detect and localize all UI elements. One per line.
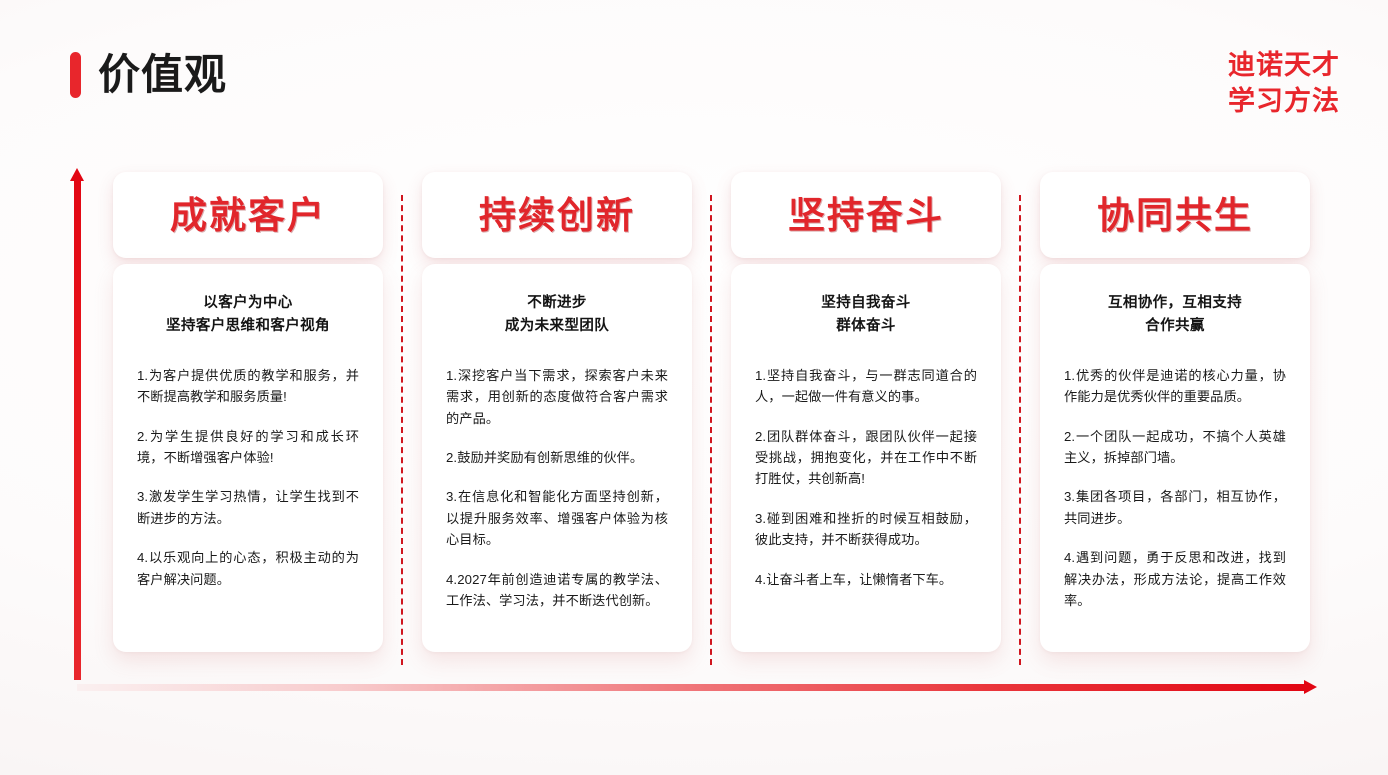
value-heading: 持续创新: [479, 197, 635, 234]
value-column: 坚持奋斗 坚持自我奋斗 群体奋斗 1.坚持自我奋斗，与一群志同道合的人，一起做一…: [731, 172, 1001, 652]
value-heading: 成就客户: [170, 197, 326, 234]
column-divider: [401, 195, 403, 665]
page-header: 价值观: [70, 52, 227, 98]
value-point-list: 1.为客户提供优质的教学和服务，并不断提高教学和服务质量! 2.为学生提供良好的…: [137, 365, 359, 590]
brand-line-2: 学习方法: [1228, 84, 1340, 120]
horizontal-axis-arrow: [77, 680, 1317, 694]
value-point: 1.深挖客户当下需求，探索客户未来需求，用创新的态度做符合客户需求的产品。: [446, 365, 668, 429]
page-title: 价值观: [98, 54, 227, 96]
value-heading-card[interactable]: 持续创新: [422, 172, 692, 258]
value-body-card: 坚持自我奋斗 群体奋斗 1.坚持自我奋斗，与一群志同道合的人，一起做一件有意义的…: [731, 264, 1001, 652]
value-point: 4.2027年前创造迪诺专属的教学法、工作法、学习法，并不断迭代创新。: [446, 569, 668, 612]
value-point: 3.集团各项目，各部门，相互协作，共同进步。: [1064, 486, 1286, 529]
value-subtitle: 以客户为中心 坚持客户思维和客户视角: [137, 292, 359, 339]
horizontal-axis-shaft: [77, 684, 1305, 691]
title-accent-bar: [70, 52, 81, 98]
value-column: 持续创新 不断进步 成为未来型团队 1.深挖客户当下需求，探索客户未来需求，用创…: [422, 172, 692, 652]
value-subtitle: 坚持自我奋斗 群体奋斗: [755, 292, 977, 339]
column-divider: [710, 195, 712, 665]
brand-line-1: 迪诺天才: [1228, 48, 1340, 84]
value-column: 成就客户 以客户为中心 坚持客户思维和客户视角 1.为客户提供优质的教学和服务，…: [113, 172, 383, 652]
value-heading-card[interactable]: 坚持奋斗: [731, 172, 1001, 258]
value-heading-card[interactable]: 成就客户: [113, 172, 383, 258]
value-point: 2.团队群体奋斗，跟团队伙伴一起接受挑战，拥抱变化，并在工作中不断打胜仗，共创新…: [755, 426, 977, 490]
value-columns: 成就客户 以客户为中心 坚持客户思维和客户视角 1.为客户提供优质的教学和服务，…: [113, 172, 1310, 652]
column-divider: [1019, 195, 1021, 665]
value-column: 协同共生 互相协作，互相支持 合作共赢 1.优秀的伙伴是迪诺的核心力量，协作能力…: [1040, 172, 1310, 652]
value-point-list: 1.深挖客户当下需求，探索客户未来需求，用创新的态度做符合客户需求的产品。 2.…: [446, 365, 668, 611]
vertical-axis-shaft: [74, 177, 81, 680]
value-heading-card[interactable]: 协同共生: [1040, 172, 1310, 258]
value-body-card: 以客户为中心 坚持客户思维和客户视角 1.为客户提供优质的教学和服务，并不断提高…: [113, 264, 383, 652]
vertical-axis-arrow: [70, 168, 84, 680]
brand-logo: 迪诺天才 学习方法: [1228, 48, 1340, 120]
value-point: 3.碰到困难和挫折的时候互相鼓励，彼此支持，并不断获得成功。: [755, 508, 977, 551]
value-point: 4.遇到问题，勇于反思和改进，找到解决办法，形成方法论，提高工作效率。: [1064, 547, 1286, 611]
value-point: 2.鼓励并奖励有创新思维的伙伴。: [446, 447, 668, 468]
value-point: 2.一个团队一起成功，不搞个人英雄主义，拆掉部门墙。: [1064, 426, 1286, 469]
value-heading: 协同共生: [1097, 197, 1253, 234]
value-subtitle: 不断进步 成为未来型团队: [446, 292, 668, 339]
value-point: 4.让奋斗者上车，让懒惰者下车。: [755, 569, 977, 590]
value-point: 2.为学生提供良好的学习和成长环境，不断增强客户体验!: [137, 426, 359, 469]
value-body-card: 互相协作，互相支持 合作共赢 1.优秀的伙伴是迪诺的核心力量，协作能力是优秀伙伴…: [1040, 264, 1310, 652]
value-point-list: 1.坚持自我奋斗，与一群志同道合的人，一起做一件有意义的事。 2.团队群体奋斗，…: [755, 365, 977, 590]
value-point-list: 1.优秀的伙伴是迪诺的核心力量，协作能力是优秀伙伴的重要品质。 2.一个团队一起…: [1064, 365, 1286, 611]
right-arrow-icon: [1304, 680, 1317, 694]
value-point: 3.在信息化和智能化方面坚持创新，以提升服务效率、增强客户体验为核心目标。: [446, 486, 668, 550]
value-point: 1.为客户提供优质的教学和服务，并不断提高教学和服务质量!: [137, 365, 359, 408]
value-subtitle: 互相协作，互相支持 合作共赢: [1064, 292, 1286, 339]
value-point: 1.坚持自我奋斗，与一群志同道合的人，一起做一件有意义的事。: [755, 365, 977, 408]
value-point: 1.优秀的伙伴是迪诺的核心力量，协作能力是优秀伙伴的重要品质。: [1064, 365, 1286, 408]
value-point: 3.激发学生学习热情，让学生找到不断进步的方法。: [137, 486, 359, 529]
value-point: 4.以乐观向上的心态，积极主动的为客户解决问题。: [137, 547, 359, 590]
value-heading: 坚持奋斗: [788, 197, 944, 234]
value-body-card: 不断进步 成为未来型团队 1.深挖客户当下需求，探索客户未来需求，用创新的态度做…: [422, 264, 692, 652]
